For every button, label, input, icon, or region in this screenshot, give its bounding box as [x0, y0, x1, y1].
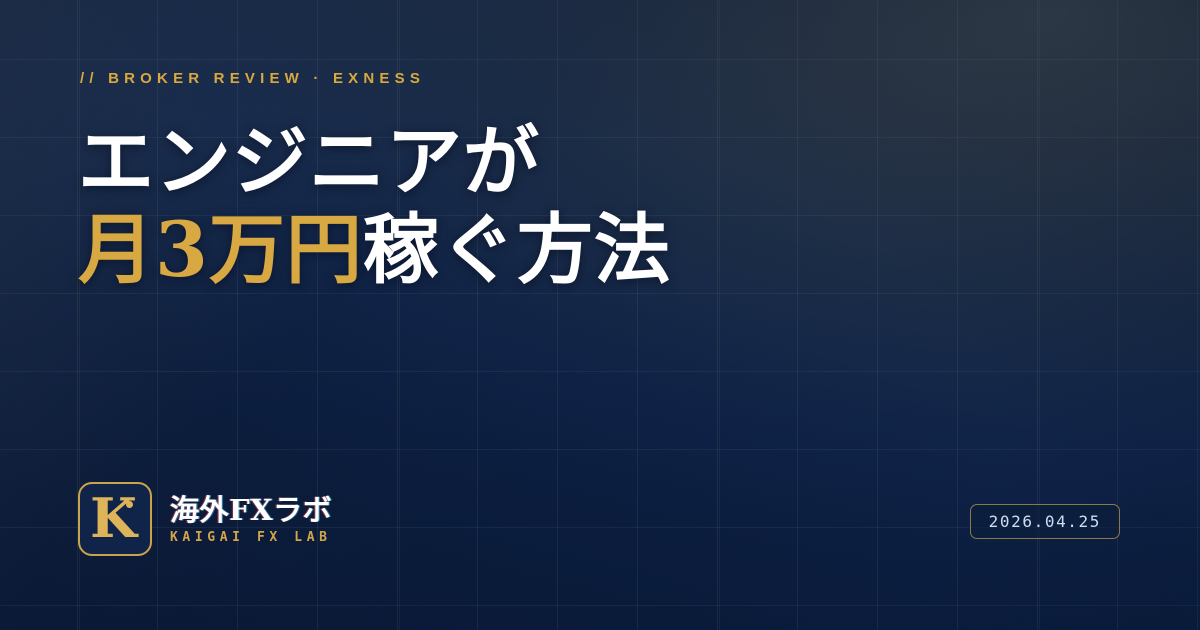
content-layer: // BROKER REVIEW · EXNESS エンジニアが 月3万円稼ぐ方… [0, 0, 1200, 630]
logo-dot-icon [126, 501, 133, 508]
brand-name: 海外FXラボ [170, 493, 332, 527]
headline-line-2: 月3万円稼ぐ方法 [78, 206, 1098, 294]
logo-letter-k: K [90, 491, 137, 545]
page-title: エンジニアが 月3万円稼ぐ方法 [78, 118, 1098, 294]
logo-mark-icon: K [78, 482, 152, 556]
eyebrow-label: // BROKER REVIEW · EXNESS [80, 70, 425, 87]
headline-accent-amount: 月3万円 [78, 205, 363, 294]
brand-logo[interactable]: K 海外FXラボ KAIGAI FX LAB [78, 482, 332, 556]
headline-line-1: エンジニアが [78, 118, 1098, 206]
brand-name-romaji: KAIGAI FX LAB [170, 530, 332, 545]
publish-date-badge: 2026.04.25 [970, 504, 1120, 539]
brand-text: 海外FXラボ KAIGAI FX LAB [170, 493, 332, 545]
og-image-canvas: // BROKER REVIEW · EXNESS エンジニアが 月3万円稼ぐ方… [0, 0, 1200, 630]
headline-line-2-rest: 稼ぐ方法 [363, 205, 671, 294]
